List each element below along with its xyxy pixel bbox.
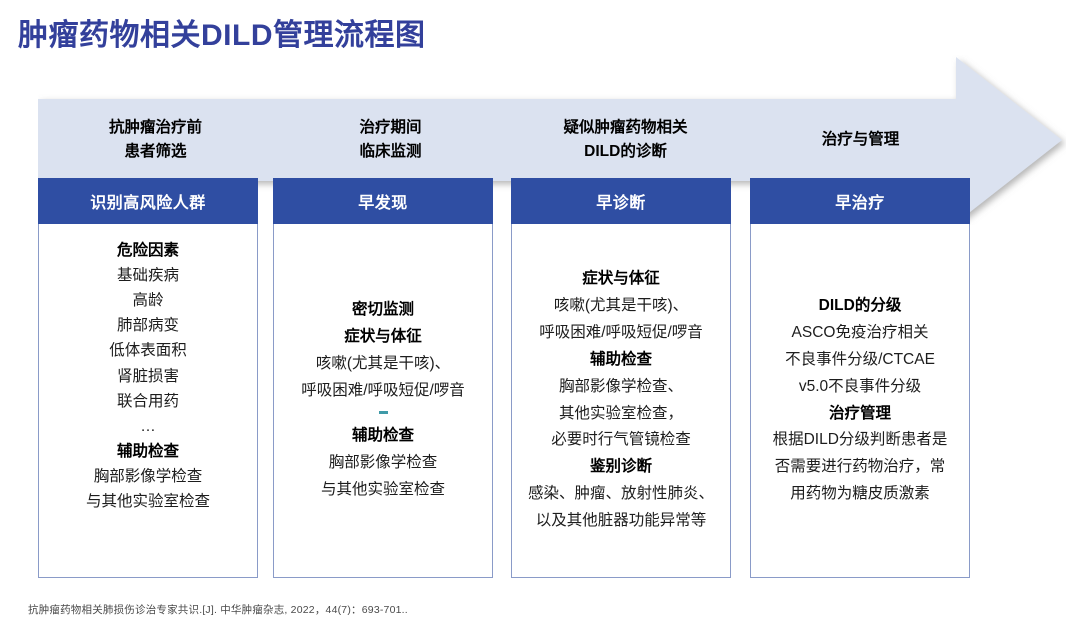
section-heading: 症状与体征 (344, 324, 422, 351)
column-0-header: 识别高风险人群 (38, 178, 258, 224)
stage-columns: 识别高风险人群 危险因素基础疾病高龄肺部病变低体表面积肾脏损害联合用药…辅助检查… (38, 178, 968, 582)
stage-column-3: 早治疗 DILD的分级ASCO免疫治疗相关不良事件分级/CTCAEv5.0不良事… (750, 178, 970, 582)
content-line: 肾脏损害 (117, 364, 179, 389)
content-line: … (140, 414, 156, 439)
stage-column-2: 早诊断 症状与体征咳嗽(尤其是干咳)、呼吸困难/呼吸短促/啰音辅助检查胸部影像学… (511, 178, 731, 582)
banner-stage-3: 治疗与管理 (743, 99, 978, 181)
content-line: 高龄 (132, 288, 163, 313)
content-line: 与其他实验室检查 (321, 477, 445, 504)
source-citation: 抗肿瘤药物相关肺损伤诊治专家共识.[J]. 中华肿瘤杂志, 2022，44(7)… (28, 602, 408, 617)
banner-stage-labels: 抗肿瘤治疗前 患者筛选 治疗期间 临床监测 疑似肿瘤药物相关 DILD的诊断 治… (38, 99, 978, 181)
section-separator (379, 411, 388, 414)
section-heading: 症状与体征 (582, 266, 660, 293)
section-heading: 密切监测 (352, 297, 414, 324)
content-line: 根据DILD分级判断患者是 (773, 427, 948, 454)
process-arrow-banner: 抗肿瘤治疗前 患者筛选 治疗期间 临床监测 疑似肿瘤药物相关 DILD的诊断 治… (38, 99, 1066, 181)
content-line: 呼吸困难/呼吸短促/啰音 (301, 378, 465, 405)
column-1-body: 密切监测症状与体征咳嗽(尤其是干咳)、呼吸困难/呼吸短促/啰音辅助检查胸部影像学… (273, 224, 493, 578)
section-heading: 辅助检查 (352, 423, 414, 450)
banner-stage-3-line1: 治疗与管理 (822, 128, 900, 152)
column-2-body: 症状与体征咳嗽(尤其是干咳)、呼吸困难/呼吸短促/啰音辅助检查胸部影像学检查、其… (511, 224, 731, 578)
stage-column-1: 早发现 密切监测症状与体征咳嗽(尤其是干咳)、呼吸困难/呼吸短促/啰音辅助检查胸… (273, 178, 493, 582)
content-line: 咳嗽(尤其是干咳)、 (554, 293, 688, 320)
content-line: 胸部影像学检查、 (559, 374, 683, 401)
page-title: 肿瘤药物相关DILD管理流程图 (18, 10, 426, 54)
banner-stage-2: 疑似肿瘤药物相关 DILD的诊断 (508, 99, 743, 181)
content-line: 基础疾病 (117, 263, 179, 288)
banner-stage-2-line2: DILD的诊断 (584, 140, 667, 164)
stage-column-0: 识别高风险人群 危险因素基础疾病高龄肺部病变低体表面积肾脏损害联合用药…辅助检查… (38, 178, 258, 582)
content-line: 肺部病变 (117, 313, 179, 338)
column-3-body: DILD的分级ASCO免疫治疗相关不良事件分级/CTCAEv5.0不良事件分级治… (750, 224, 970, 578)
content-line: 低体表面积 (109, 338, 187, 363)
banner-stage-1-line2: 临床监测 (359, 140, 421, 164)
content-line: 与其他实验室检查 (86, 489, 210, 514)
section-heading: DILD的分级 (819, 293, 902, 320)
column-1-header: 早发现 (273, 178, 493, 224)
banner-stage-0-line1: 抗肿瘤治疗前 (109, 116, 202, 140)
banner-stage-0-line2: 患者筛选 (124, 140, 186, 164)
section-heading: 治疗管理 (829, 401, 891, 428)
column-2-header: 早诊断 (511, 178, 731, 224)
content-line: 感染、肿瘤、放射性肺炎、 (528, 481, 714, 508)
banner-stage-0: 抗肿瘤治疗前 患者筛选 (38, 99, 273, 181)
content-line: 以及其他脏器功能异常等 (536, 508, 707, 535)
content-line: ASCO免疫治疗相关 (792, 320, 929, 347)
content-line: 其他实验室检查， (559, 401, 683, 428)
column-3-header: 早治疗 (750, 178, 970, 224)
section-heading: 危险因素 (117, 238, 179, 263)
content-line: 胸部影像学检查 (94, 464, 203, 489)
content-line: 咳嗽(尤其是干咳)、 (316, 351, 450, 378)
content-line: 联合用药 (117, 389, 179, 414)
column-0-body: 危险因素基础疾病高龄肺部病变低体表面积肾脏损害联合用药…辅助检查胸部影像学检查与… (38, 224, 258, 578)
content-line: 必要时行气管镜检查 (551, 427, 691, 454)
banner-stage-1-line1: 治疗期间 (359, 116, 421, 140)
section-heading: 辅助检查 (590, 347, 652, 374)
section-heading: 辅助检查 (117, 439, 179, 464)
content-line: 不良事件分级/CTCAE (785, 347, 935, 374)
banner-stage-1: 治疗期间 临床监测 (273, 99, 508, 181)
content-line: 呼吸困难/呼吸短促/啰音 (539, 320, 703, 347)
banner-stage-2-line1: 疑似肿瘤药物相关 (563, 116, 687, 140)
content-line: 否需要进行药物治疗，常 (775, 454, 946, 481)
content-line: v5.0不良事件分级 (799, 374, 921, 401)
content-line: 用药物为糖皮质激素 (790, 481, 930, 508)
section-heading: 鉴别诊断 (590, 454, 652, 481)
content-line: 胸部影像学检查 (329, 450, 438, 477)
